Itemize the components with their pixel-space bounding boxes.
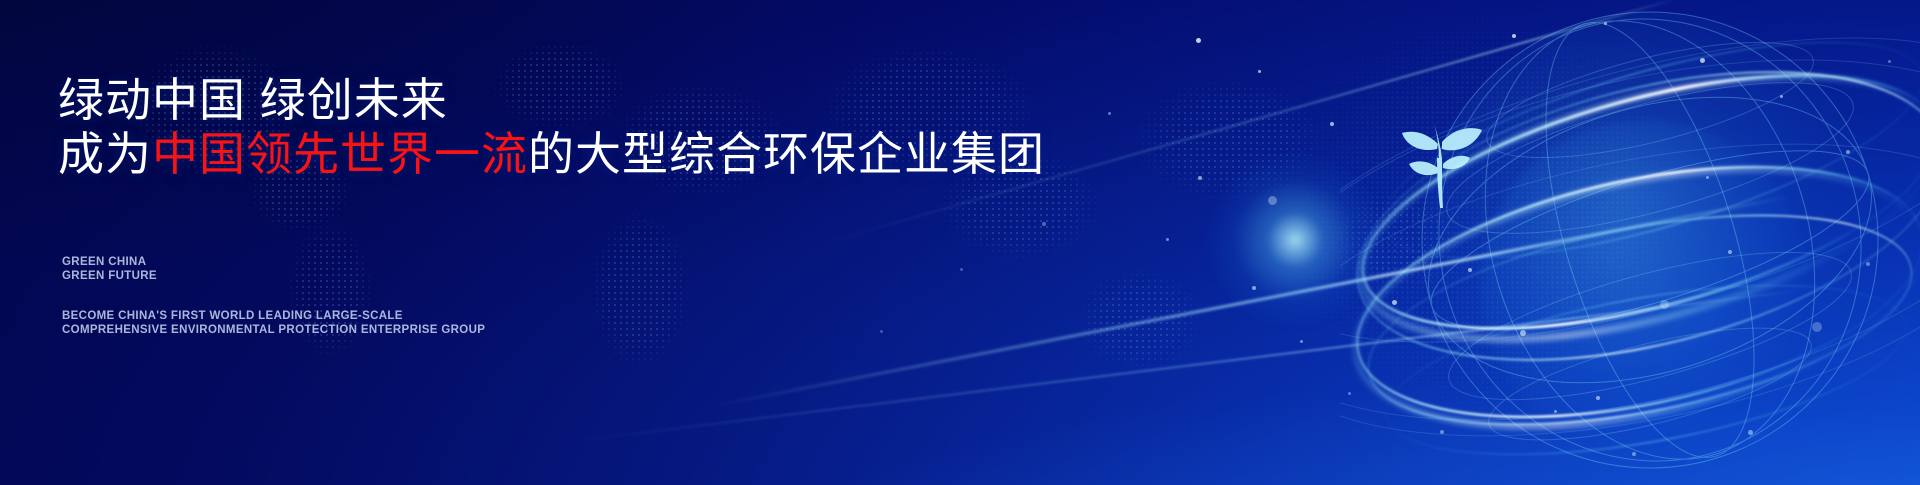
headline-line-1: 绿动中国 绿创未来 <box>58 74 1045 126</box>
headline-group: 绿动中国 绿创未来 成为中国领先世界一流的大型综合环保企业集团 <box>58 74 1045 180</box>
globe-center-flare <box>1205 150 1385 330</box>
tagline-line-1: GREEN CHINA <box>62 256 157 270</box>
wireframe-globe <box>1340 0 1920 485</box>
subtitle-line-1: BECOME CHINA'S FIRST WORLD LEADING LARGE… <box>62 310 485 324</box>
sprout-leaf-icon <box>1392 108 1488 212</box>
tagline-line-2: GREEN FUTURE <box>62 270 157 284</box>
subtitle-line-2: COMPREHENSIVE ENVIRONMENTAL PROTECTION E… <box>62 324 485 338</box>
headline-line-2: 成为中国领先世界一流的大型综合环保企业集团 <box>58 128 1045 180</box>
tagline-group: GREEN CHINA GREEN FUTURE <box>62 256 157 283</box>
subtitle-group: BECOME CHINA'S FIRST WORLD LEADING LARGE… <box>62 310 485 337</box>
banner-copy: 绿动中国 绿创未来 成为中国领先世界一流的大型综合环保企业集团 GREEN CH… <box>58 0 1058 485</box>
headline-line-2-prefix: 成为 <box>58 128 152 180</box>
headline-line-2-highlight: 中国领先世界一流 <box>152 128 528 180</box>
hero-banner: 绿动中国 绿创未来 成为中国领先世界一流的大型综合环保企业集团 GREEN CH… <box>0 0 1920 485</box>
headline-line-2-suffix: 的大型综合环保企业集团 <box>528 128 1045 180</box>
